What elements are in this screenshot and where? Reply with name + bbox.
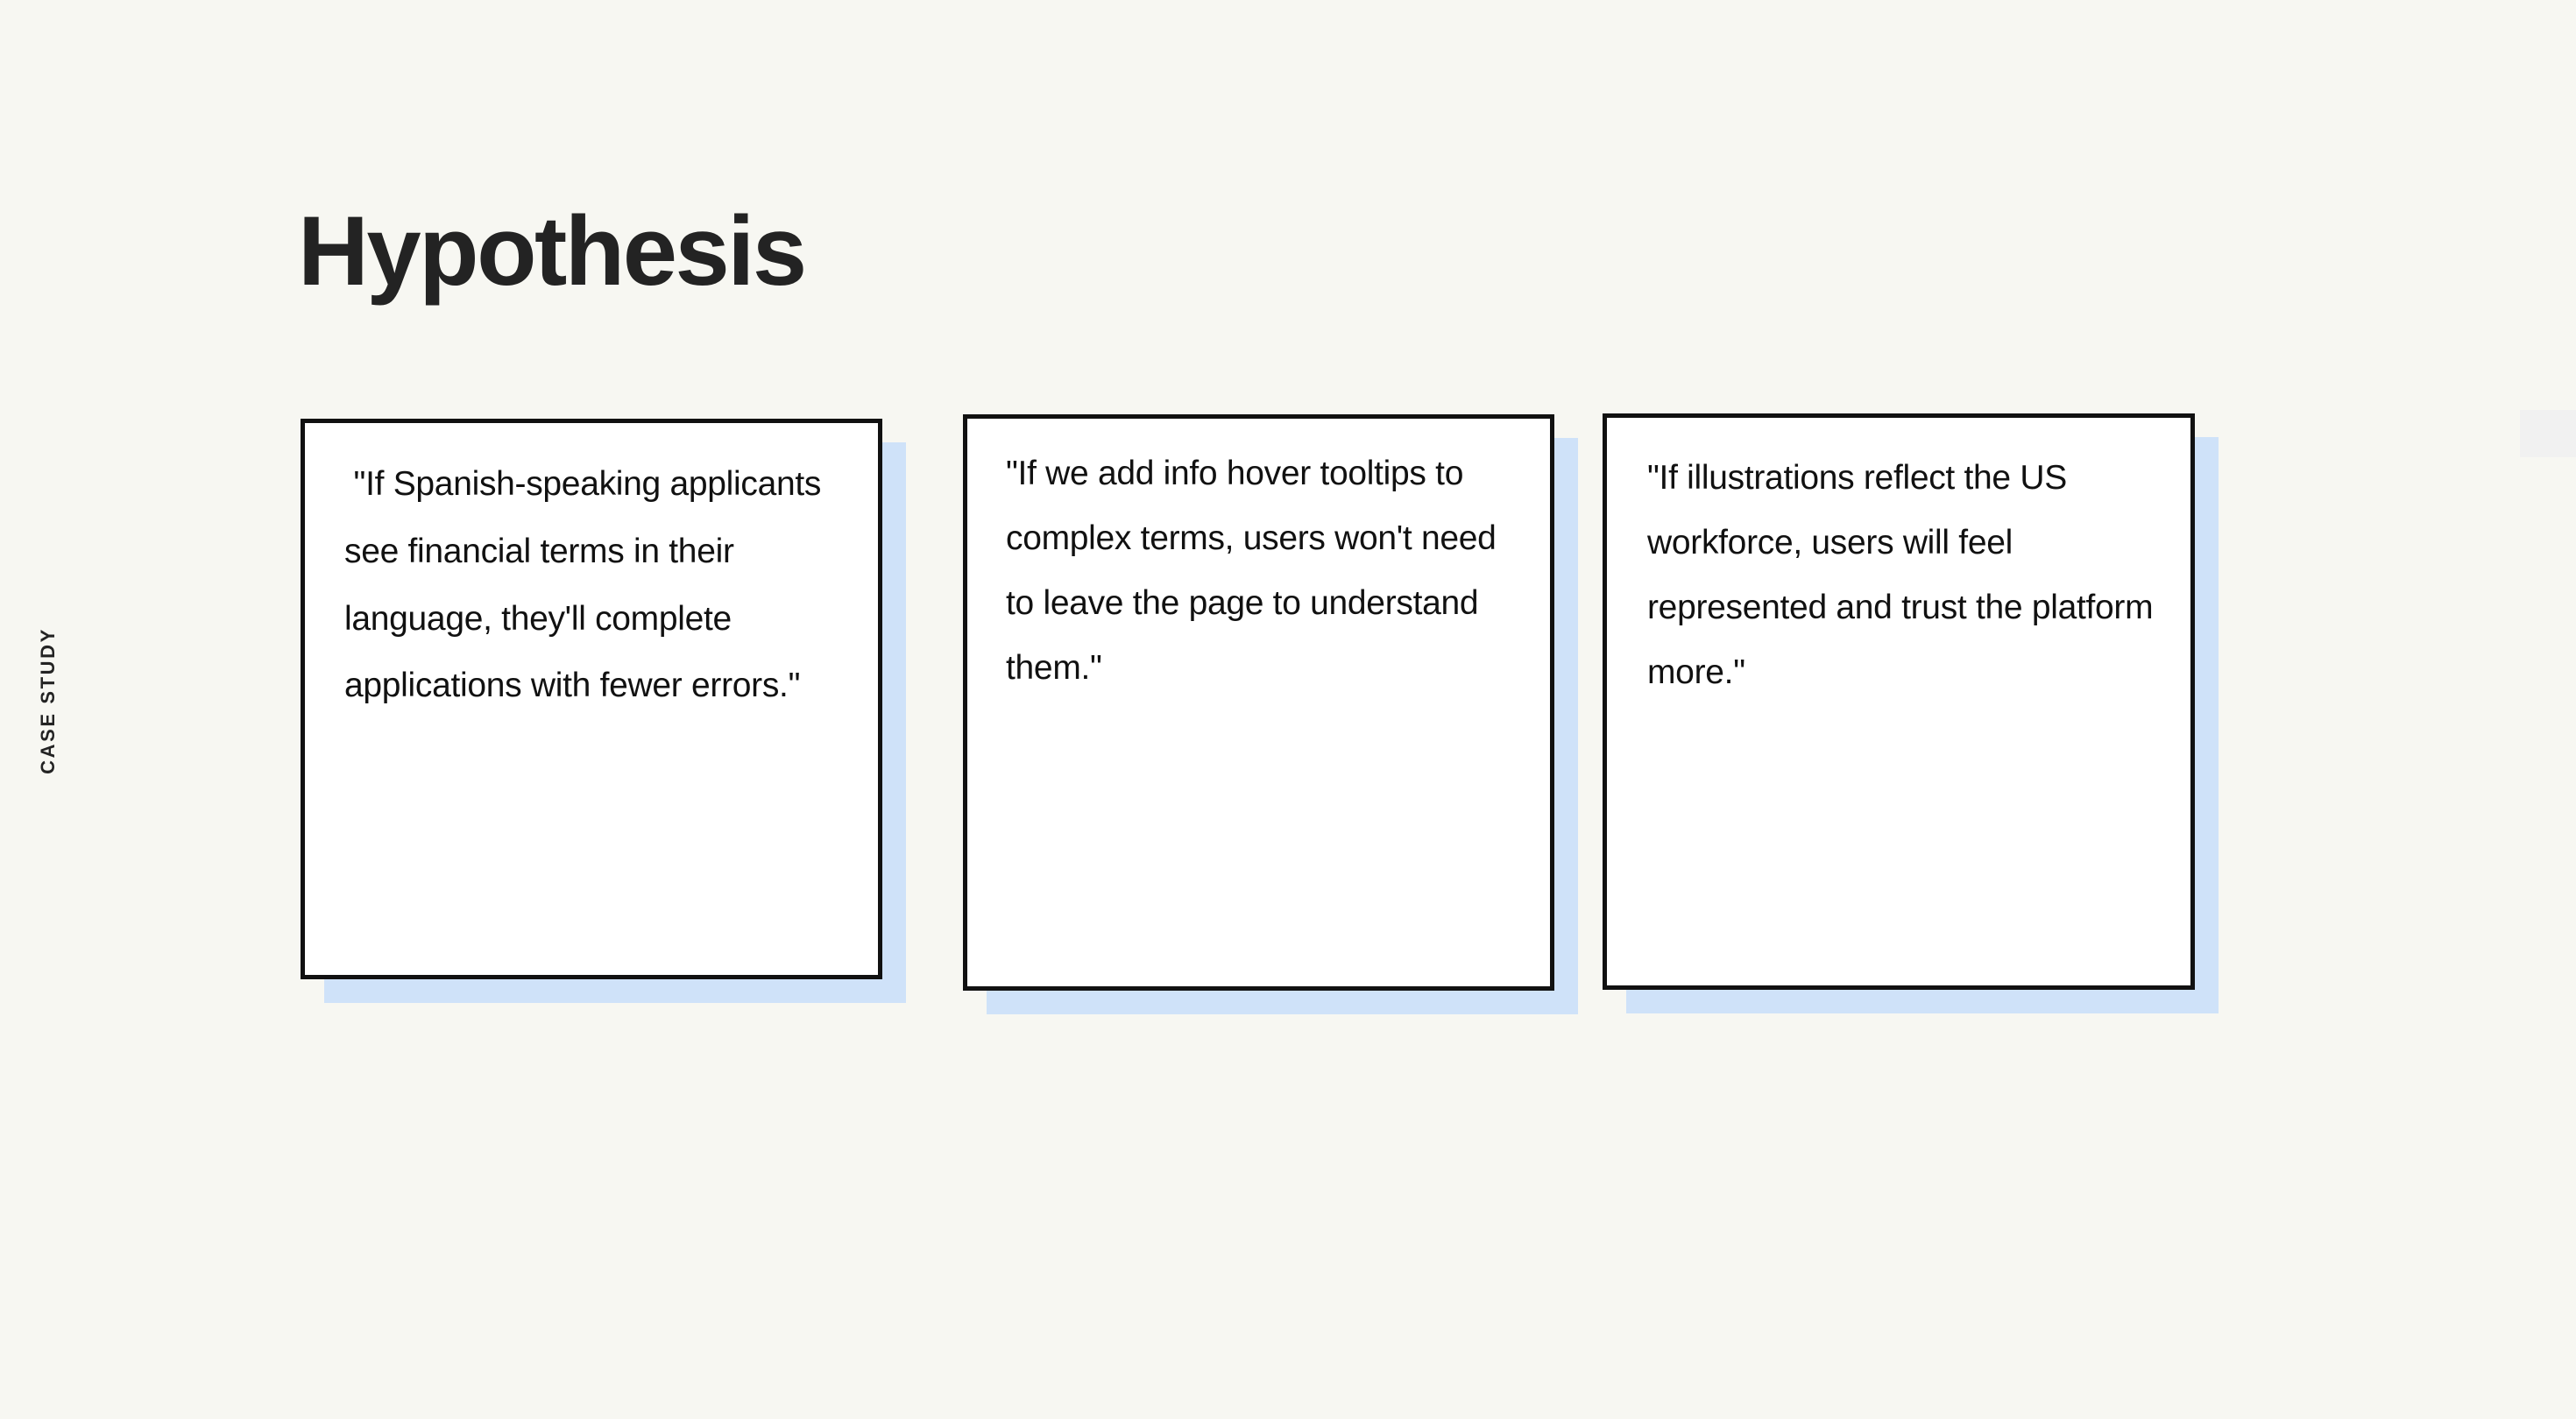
- card-1-surface[interactable]: "If Spanish-speaking applicants see fina…: [301, 419, 882, 979]
- card-3-quote-text: "If illustrations reflect the US workfor…: [1647, 446, 2159, 705]
- card-3-surface[interactable]: "If illustrations reflect the US workfor…: [1603, 413, 2195, 990]
- slide-canvas: CASE STUDY Hypothesis "If Spanish-speaki…: [0, 0, 2576, 1419]
- hypothesis-card-group: "If Spanish-speaking applicants see fina…: [0, 0, 2576, 1419]
- right-edge-panel: [2520, 410, 2576, 457]
- card-2-quote-text: "If we add info hover tooltips to comple…: [1006, 441, 1518, 701]
- hypothesis-card-2[interactable]: "If we add info hover tooltips to comple…: [963, 414, 1554, 991]
- card-2-surface[interactable]: "If we add info hover tooltips to comple…: [963, 414, 1554, 991]
- card-1-quote-text: "If Spanish-speaking applicants see fina…: [344, 451, 841, 720]
- hypothesis-card-1[interactable]: "If Spanish-speaking applicants see fina…: [301, 419, 882, 979]
- hypothesis-card-3[interactable]: "If illustrations reflect the US workfor…: [1603, 413, 2195, 990]
